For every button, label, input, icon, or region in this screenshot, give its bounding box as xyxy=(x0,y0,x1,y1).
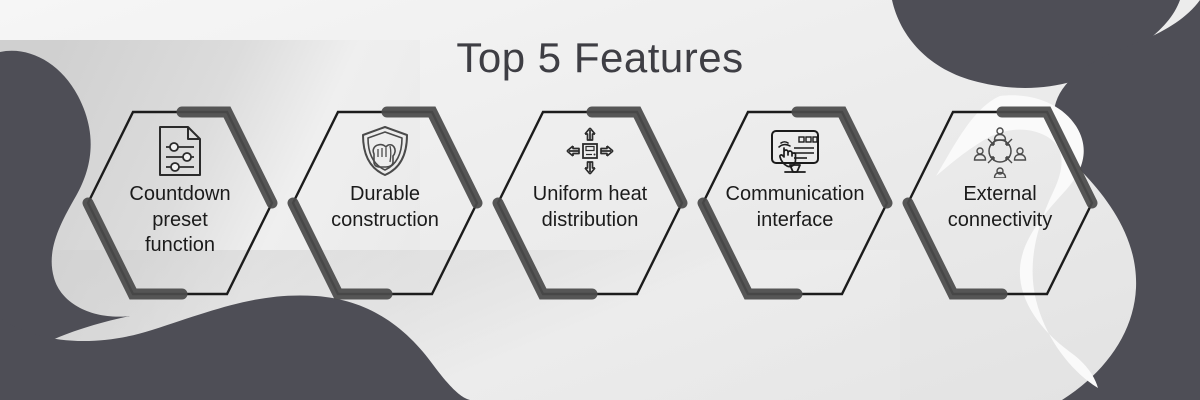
feature-label: Communication interface xyxy=(679,182,911,233)
infographic-canvas: Top 5 Features xyxy=(0,0,1200,400)
feature-hex-durable-construction[interactable]: Durable construction xyxy=(291,108,479,298)
people-network-icon xyxy=(906,122,1094,180)
document-sliders-icon xyxy=(86,122,274,180)
features-row: Countdown preset function Durable constr… xyxy=(0,108,1200,298)
feature-label: Countdown preset function xyxy=(64,182,296,259)
feature-hex-external-connectivity[interactable]: External connectivity xyxy=(906,108,1094,298)
feature-label: Uniform heat distribution xyxy=(474,182,706,233)
feature-hex-communication-interface[interactable]: Communication interface xyxy=(701,108,889,298)
feature-label: External connectivity xyxy=(884,182,1116,233)
shield-fist-icon xyxy=(291,122,479,180)
feature-hex-uniform-heat-distribution[interactable]: Uniform heat distribution xyxy=(496,108,684,298)
feature-label: Durable construction xyxy=(269,182,501,233)
four-arrows-box-icon xyxy=(496,122,684,180)
monitor-click-icon xyxy=(701,122,889,180)
feature-hex-countdown-preset-function[interactable]: Countdown preset function xyxy=(86,108,274,298)
page-title: Top 5 Features xyxy=(0,34,1200,82)
